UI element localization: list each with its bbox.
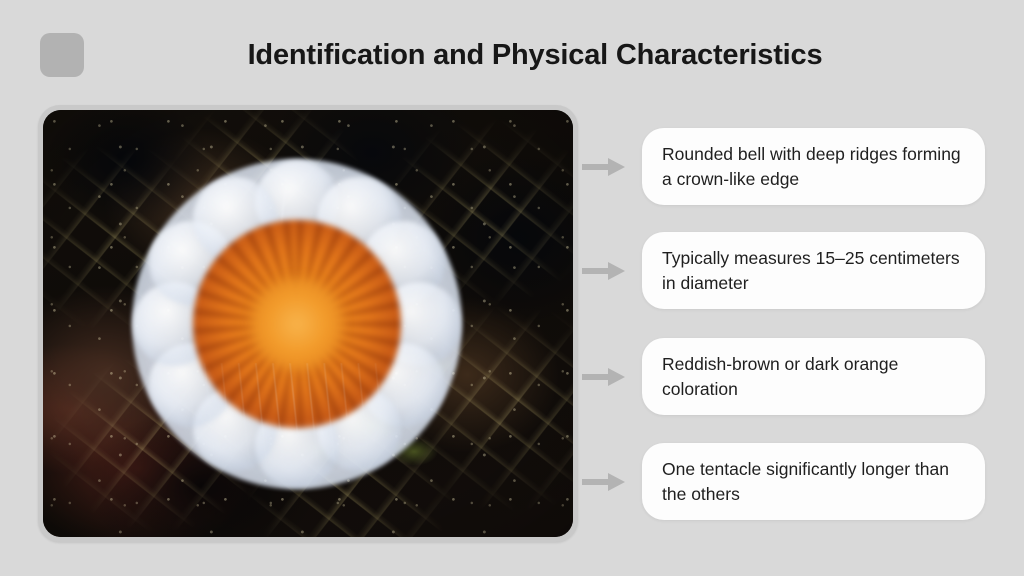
callout-item: Typically measures 15–25 centimeters in … xyxy=(582,232,985,309)
photo-frame xyxy=(38,105,578,542)
slide: Identification and Physical Characterist… xyxy=(0,0,1024,576)
callout-card[interactable]: Typically measures 15–25 centimeters in … xyxy=(642,232,985,309)
jellyfish-tentacles xyxy=(147,363,447,537)
arrow-right-icon xyxy=(582,368,626,386)
jellyfish-core-center xyxy=(251,278,343,370)
arrow-right-icon xyxy=(582,262,626,280)
callout-text: Rounded bell with deep ridges forming a … xyxy=(662,142,969,192)
callout-card[interactable]: Reddish-brown or dark orange coloration xyxy=(642,338,985,415)
page-title: Identification and Physical Characterist… xyxy=(110,36,960,74)
callout-item: One tentacle significantly longer than t… xyxy=(582,443,985,520)
callout-item: Reddish-brown or dark orange coloration xyxy=(582,338,985,415)
callout-list: Rounded bell with deep ridges forming a … xyxy=(582,120,992,530)
callout-item: Rounded bell with deep ridges forming a … xyxy=(582,128,985,205)
callout-card[interactable]: One tentacle significantly longer than t… xyxy=(642,443,985,520)
jellyfish-photo xyxy=(43,110,573,537)
callout-text: Reddish-brown or dark orange coloration xyxy=(662,352,969,402)
decorative-corner-square xyxy=(40,33,84,77)
jellyfish xyxy=(132,159,462,489)
callout-text: One tentacle significantly longer than t… xyxy=(662,457,969,507)
callout-card[interactable]: Rounded bell with deep ridges forming a … xyxy=(642,128,985,205)
arrow-right-icon xyxy=(582,473,626,491)
callout-text: Typically measures 15–25 centimeters in … xyxy=(662,246,969,296)
arrow-right-icon xyxy=(582,158,626,176)
